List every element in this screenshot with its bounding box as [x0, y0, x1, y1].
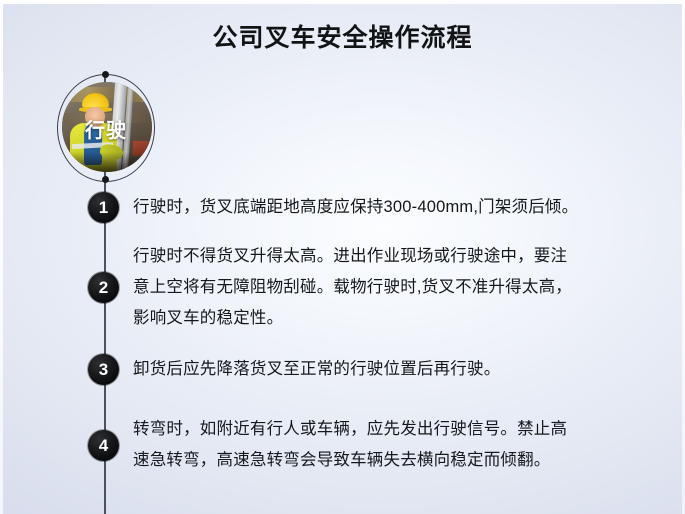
step-line: 行驶时，货叉底端距地高度应保持300-400mm,门架须后倾。: [133, 192, 661, 223]
step-line: 行驶时不得货叉升得太高。进出作业现场或行驶途中，要注: [133, 241, 661, 272]
step-marker-4: 4: [88, 430, 119, 461]
step-line: 卸货后应先降落货叉至正常的行驶位置后再行驶。: [133, 354, 661, 385]
step-line: 速急转弯，高速急转弯会导致车辆失去横向稳定而倾翻。: [133, 445, 661, 476]
step-line: 影响叉车的稳定性。: [133, 303, 661, 334]
slide-top-edge: [0, 0, 685, 4]
step-line: 转弯时，如附近有行人或车辆，应先发出行驶信号。禁止高: [133, 414, 661, 445]
badge-label: 行驶: [52, 114, 160, 143]
badge-operator-photo: 行驶: [52, 72, 160, 186]
page-title: 公司叉车安全操作流程: [0, 18, 685, 54]
step-text-4: 转弯时，如附近有行人或车辆，应先发出行驶信号。禁止高 速急转弯，高速急转弯会导致…: [133, 414, 661, 476]
step-line: 意上空将有无障阻物刮碰。载物行驶时,货叉不准升得太高，: [133, 272, 661, 303]
step-marker-1: 1: [88, 192, 119, 223]
ring-dot-top-icon: [102, 71, 109, 78]
step-marker-3: 3: [88, 354, 119, 385]
step-text-3: 卸货后应先降落货叉至正常的行驶位置后再行驶。: [133, 354, 661, 385]
slide-left-edge: [0, 0, 3, 514]
ring-dot-bottom-icon: [102, 176, 109, 183]
slide-canvas: 公司叉车安全操作流程 行驶: [0, 0, 685, 514]
step-text-2: 行驶时不得货叉升得太高。进出作业现场或行驶途中，要注 意上空将有无障阻物刮碰。载…: [133, 241, 661, 334]
step-text-1: 行驶时，货叉底端距地高度应保持300-400mm,门架须后倾。: [133, 192, 661, 223]
step-marker-2: 2: [88, 272, 119, 303]
